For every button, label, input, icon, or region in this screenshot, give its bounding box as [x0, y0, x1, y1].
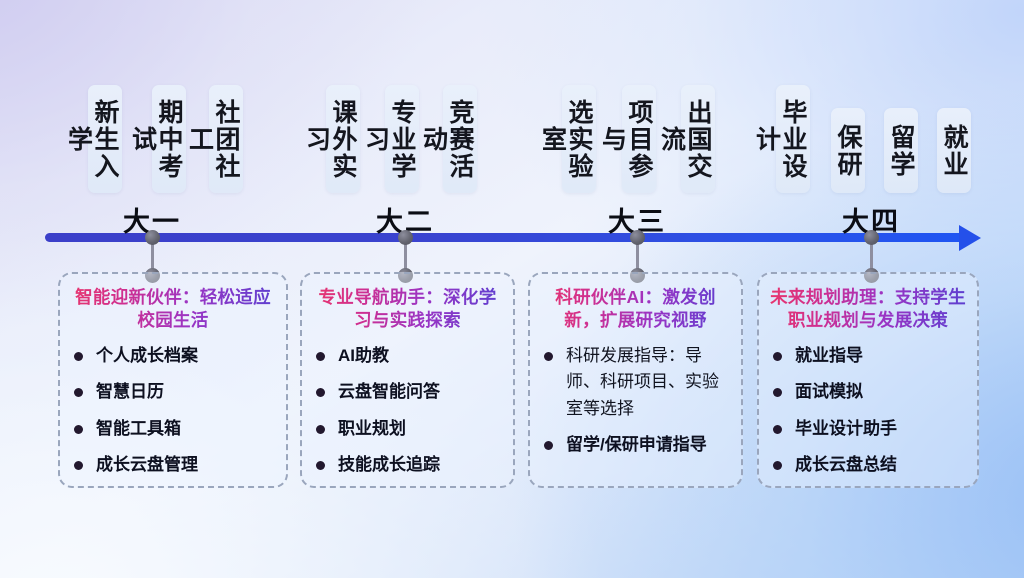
stage-card-feature-item[interactable]: 面试模拟 — [769, 379, 967, 405]
event-chip[interactable]: 项目参与 — [622, 85, 656, 193]
event-chip[interactable]: 竞赛活动 — [443, 85, 477, 193]
stage-card-feature-item[interactable]: 职业规划 — [312, 416, 503, 442]
event-chip[interactable]: 毕业设计 — [776, 85, 810, 193]
event-chip[interactable]: 新生入学 — [88, 85, 122, 193]
event-chip[interactable]: 保研 — [831, 108, 865, 193]
timeline-node-dot[interactable] — [145, 230, 160, 245]
stage-card-title: 科研伙伴AI：激发创新，扩展研究视野 — [540, 286, 731, 333]
stage-card-feature-item[interactable]: 技能成长追踪 — [312, 452, 503, 478]
stage-card-feature-list: 个人成长档案智慧日历智能工具箱成长云盘管理 — [70, 343, 276, 478]
stage-card-feature-item[interactable]: 毕业设计助手 — [769, 416, 967, 442]
timeline-node-dot[interactable] — [864, 230, 879, 245]
infographic-canvas: 新生入学期中考试社团社工课外实习专业学习竞赛活动选实验室项目参与出国交流毕业设计… — [0, 0, 1024, 578]
event-chip[interactable]: 期中考试 — [152, 85, 186, 193]
stage-card-feature-item[interactable]: 就业指导 — [769, 343, 967, 369]
event-chip[interactable]: 留学 — [884, 108, 918, 193]
event-chip[interactable]: 选实验室 — [562, 85, 596, 193]
stage-card-feature-list: AI助教云盘智能问答职业规划技能成长追踪 — [312, 343, 503, 478]
stage-card-feature-item[interactable]: AI助教 — [312, 343, 503, 369]
stage-card-title: 智能迎新伙伴：轻松适应校园生活 — [70, 286, 276, 333]
timeline-arrow-icon — [959, 225, 981, 251]
stage-card-feature-item[interactable]: 成长云盘管理 — [70, 452, 276, 478]
stage-card-feature-item[interactable]: 智慧日历 — [70, 379, 276, 405]
stage-card-title: 未来规划助理：支持学生职业规划与发展决策 — [769, 286, 967, 333]
timeline-node-dot[interactable] — [398, 230, 413, 245]
stage-card-feature-item[interactable]: 智能工具箱 — [70, 416, 276, 442]
event-chip[interactable]: 专业学习 — [385, 85, 419, 193]
timeline-axis — [45, 233, 965, 242]
stage-card-feature-item[interactable]: 个人成长档案 — [70, 343, 276, 369]
stage-card-feature-item[interactable]: 成长云盘总结 — [769, 452, 967, 478]
event-chip[interactable]: 社团社工 — [209, 85, 243, 193]
stage-card-feature-list: 就业指导面试模拟毕业设计助手成长云盘总结 — [769, 343, 967, 478]
timeline-node-dot[interactable] — [630, 230, 645, 245]
stage-card[interactable]: 专业导航助手：深化学习与实践探索AI助教云盘智能问答职业规划技能成长追踪 — [300, 272, 515, 488]
stage-card[interactable]: 未来规划助理：支持学生职业规划与发展决策就业指导面试模拟毕业设计助手成长云盘总结 — [757, 272, 979, 488]
stage-card-title: 专业导航助手：深化学习与实践探索 — [312, 286, 503, 333]
stage-card[interactable]: 智能迎新伙伴：轻松适应校园生活个人成长档案智慧日历智能工具箱成长云盘管理 — [58, 272, 288, 488]
event-chip[interactable]: 出国交流 — [681, 85, 715, 193]
event-chip[interactable]: 就业 — [937, 108, 971, 193]
stage-card-feature-item[interactable]: 留学/保研申请指导 — [540, 432, 731, 458]
stage-card-feature-item[interactable]: 科研发展指导：导师、科研项目、实验室等选择 — [540, 343, 731, 422]
stage-card-feature-list: 科研发展指导：导师、科研项目、实验室等选择留学/保研申请指导 — [540, 343, 731, 458]
stage-card-feature-item[interactable]: 云盘智能问答 — [312, 379, 503, 405]
stage-card[interactable]: 科研伙伴AI：激发创新，扩展研究视野科研发展指导：导师、科研项目、实验室等选择留… — [528, 272, 743, 488]
event-chip[interactable]: 课外实习 — [326, 85, 360, 193]
